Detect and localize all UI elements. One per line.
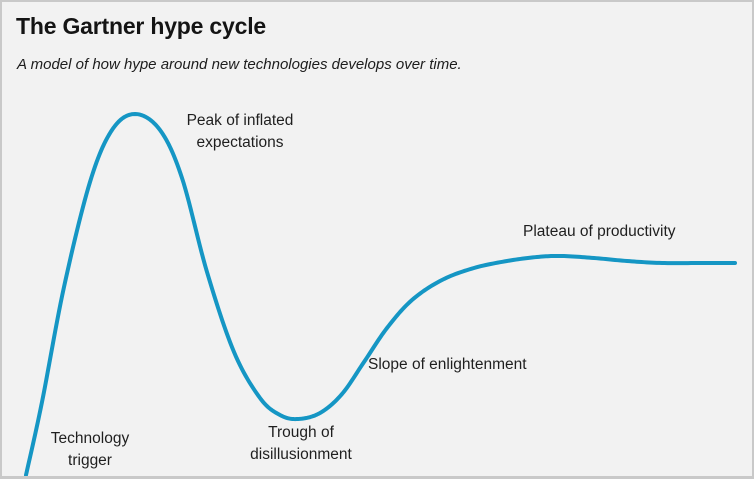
annotation-trough-of-disillusionment: Trough of disillusionment	[240, 422, 362, 466]
annotation-peak-of-inflated-expectations: Peak of inflated expectations	[175, 110, 305, 154]
annotation-slope-of-enlightenment: Slope of enlightenment	[368, 354, 550, 376]
hype-cycle-curve	[26, 114, 735, 475]
hype-cycle-figure: The Gartner hype cycle A model of how hy…	[0, 0, 754, 479]
annotation-technology-trigger: Technology trigger	[38, 428, 142, 472]
annotation-plateau-of-productivity: Plateau of productivity	[523, 221, 701, 243]
